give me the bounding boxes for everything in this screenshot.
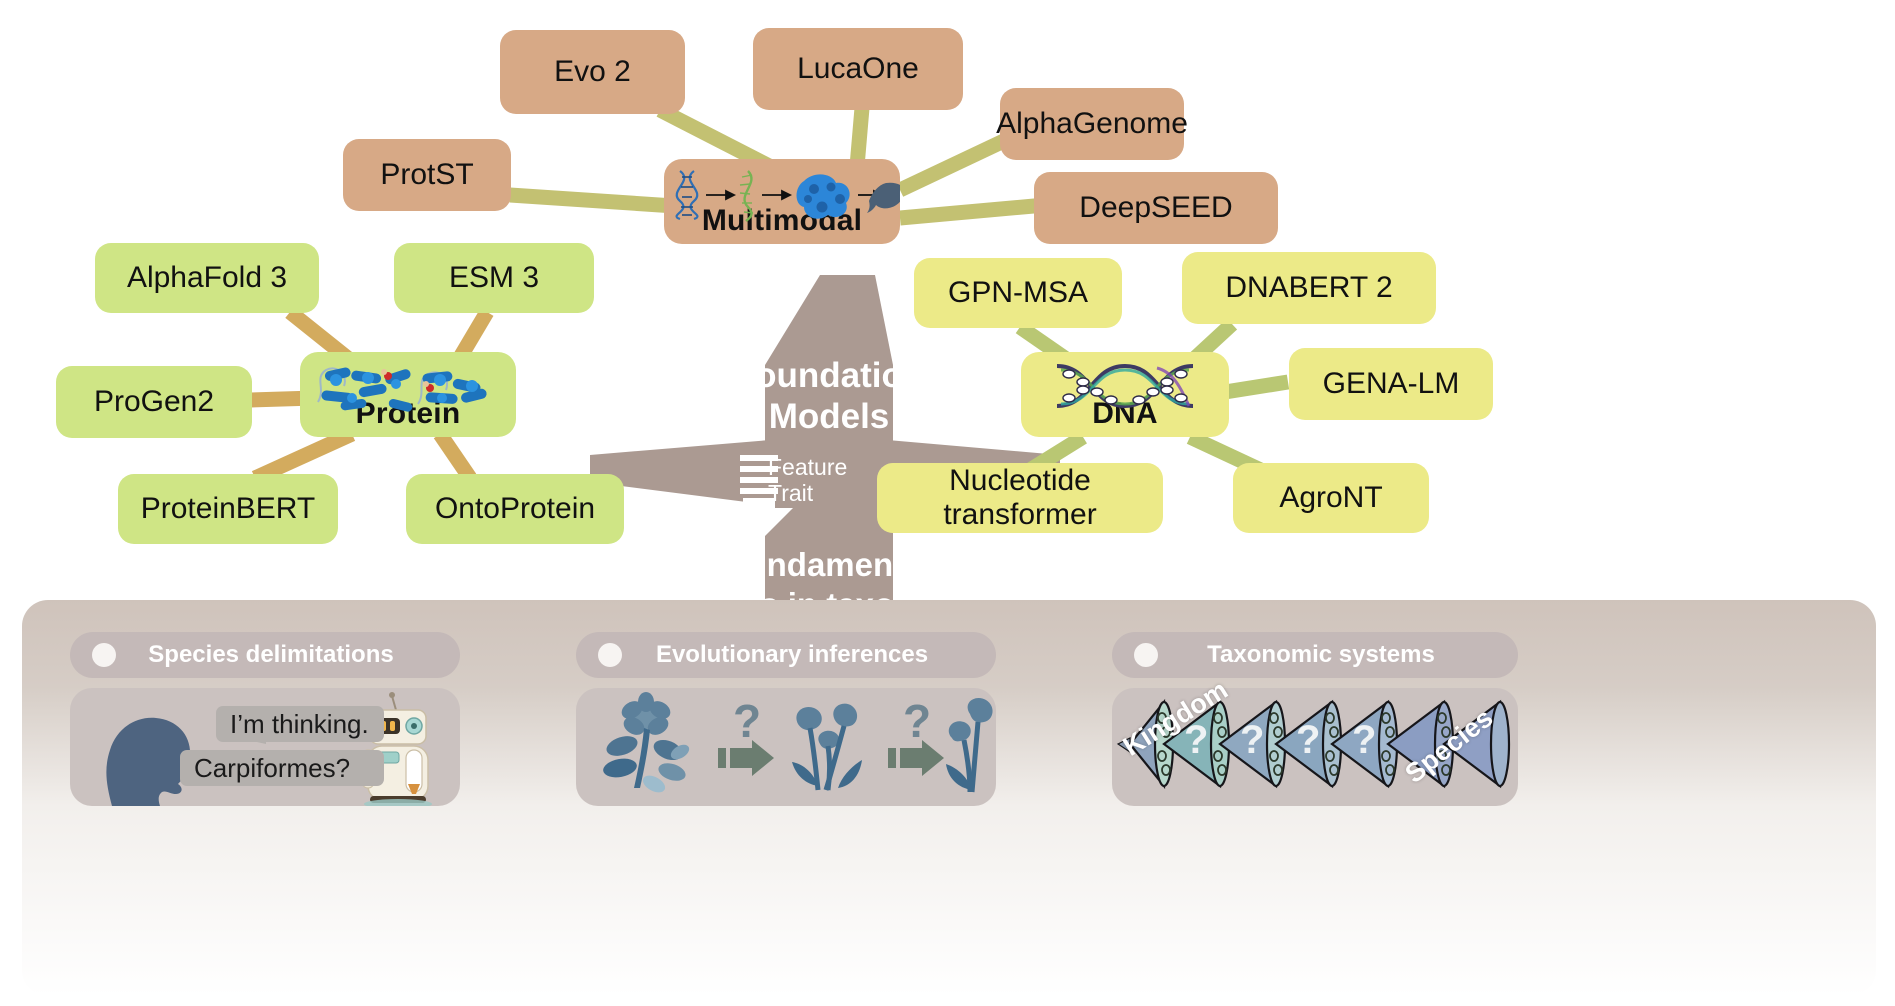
- model-chip-label: ProtST: [380, 158, 473, 193]
- helix-question-4: ?: [1352, 718, 1376, 763]
- human-head-silhouette-icon: [106, 718, 190, 806]
- speech-bubble-carpiformes: Carpiformes?: [180, 750, 384, 786]
- section-header-evolutionary-inferences[interactable]: Evolutionary inferences: [576, 632, 996, 678]
- section-header-species-delimitations[interactable]: Species delimitations: [70, 632, 460, 678]
- bullet-dot-icon: [598, 643, 622, 667]
- dna-rna-protein-fish-icon: [664, 165, 900, 223]
- feature-trait-label: Feature Trait: [768, 455, 888, 507]
- hub-protein[interactable]: Protein: [300, 352, 516, 437]
- question-mark-2: ?: [903, 694, 931, 748]
- protein-ribbon-icon: [300, 358, 516, 416]
- fundamental-issues-line1: Fundamental: [664, 545, 994, 585]
- model-chip-label: AgroNT: [1279, 481, 1382, 516]
- trait-label: Trait: [768, 481, 888, 507]
- helix-question-3: ?: [1296, 718, 1320, 763]
- question-mark-1: ?: [733, 694, 761, 748]
- model-chip-label: DNABERT 2: [1225, 271, 1392, 306]
- model-chip-agront[interactable]: AgroNT: [1233, 463, 1429, 533]
- model-chip-label: Nucleotide transformer: [887, 464, 1153, 533]
- model-chip-label: AlphaGenome: [996, 107, 1188, 142]
- model-chip-label: ProGen2: [94, 385, 214, 420]
- section-title: Evolutionary inferences: [622, 641, 996, 669]
- fish-icon: [867, 179, 900, 213]
- model-chip-alphagenome[interactable]: AlphaGenome: [1000, 88, 1184, 160]
- model-chip-deepseed[interactable]: DeepSEED: [1034, 172, 1278, 244]
- speech-bubble-text: I’m thinking.: [230, 709, 369, 740]
- model-chip-dnabert-2[interactable]: DNABERT 2: [1182, 252, 1436, 324]
- section-body-species-delimitations: I’m thinking. Carpiformes?: [70, 688, 460, 806]
- flower-plant-3-icon: [946, 698, 993, 792]
- model-chip-protst[interactable]: ProtST: [343, 139, 511, 211]
- speech-bubble-text: Carpiformes?: [194, 753, 350, 784]
- helix-question-1: ?: [1184, 718, 1208, 763]
- hub-multimodal[interactable]: Multimodal: [664, 159, 900, 244]
- section-title: Species delimitations: [116, 641, 460, 669]
- section-title: Taxonomic systems: [1158, 641, 1518, 669]
- section-body-evolutionary-inferences: ? ?: [576, 688, 996, 806]
- bullet-dot-icon: [1134, 643, 1158, 667]
- model-chip-label: LucaOne: [797, 52, 919, 87]
- foundation-models-line1: Foundation: [714, 355, 944, 396]
- flower-plant-2-icon: [792, 704, 862, 790]
- feature-label: Feature: [768, 455, 888, 481]
- model-chip-esm-3[interactable]: ESM 3: [394, 243, 594, 313]
- model-chip-label: ProteinBERT: [141, 492, 316, 527]
- model-chip-alphafold-3[interactable]: AlphaFold 3: [95, 243, 319, 313]
- model-chip-gpn-msa[interactable]: GPN-MSA: [914, 258, 1122, 328]
- section-header-taxonomic-systems[interactable]: Taxonomic systems: [1112, 632, 1518, 678]
- model-chip-evo-2[interactable]: Evo 2: [500, 30, 685, 114]
- diagram-canvas: Multimodal: [0, 0, 1895, 1006]
- model-chip-label: GENA-LM: [1323, 367, 1460, 402]
- model-chip-label: OntoProtein: [435, 492, 595, 527]
- foundation-models-title: Foundation Models: [714, 355, 944, 438]
- model-chip-lucaone[interactable]: LucaOne: [753, 28, 963, 110]
- model-chip-progen2[interactable]: ProGen2: [56, 366, 252, 438]
- foundation-models-line2: Models: [714, 396, 944, 437]
- model-chip-label: AlphaFold 3: [127, 261, 287, 296]
- model-chip-proteinbert[interactable]: ProteinBERT: [118, 474, 338, 544]
- bottom-panel: Species delimitations: [22, 600, 1876, 996]
- model-chip-label: DeepSEED: [1079, 191, 1232, 226]
- section-body-taxonomic-systems: Kingdom Species ? ? ? ?: [1112, 688, 1518, 806]
- model-chip-label: Evo 2: [554, 55, 631, 90]
- model-chip-ontoprotein[interactable]: OntoProtein: [406, 474, 624, 544]
- model-chip-gena-lm[interactable]: GENA-LM: [1289, 348, 1493, 420]
- helix-question-2: ?: [1240, 718, 1264, 763]
- speech-bubble-thinking: I’m thinking.: [216, 706, 384, 742]
- hub-dna[interactable]: DNA: [1021, 352, 1229, 437]
- bullet-dot-icon: [92, 643, 116, 667]
- model-chip-nucleotide-transformer[interactable]: Nucleotide transformer: [877, 463, 1163, 533]
- dna-helix-icon: [1021, 358, 1229, 416]
- model-chip-label: GPN-MSA: [948, 276, 1088, 311]
- flower-plant-1-icon: [602, 692, 692, 796]
- model-chip-label: ESM 3: [449, 261, 539, 296]
